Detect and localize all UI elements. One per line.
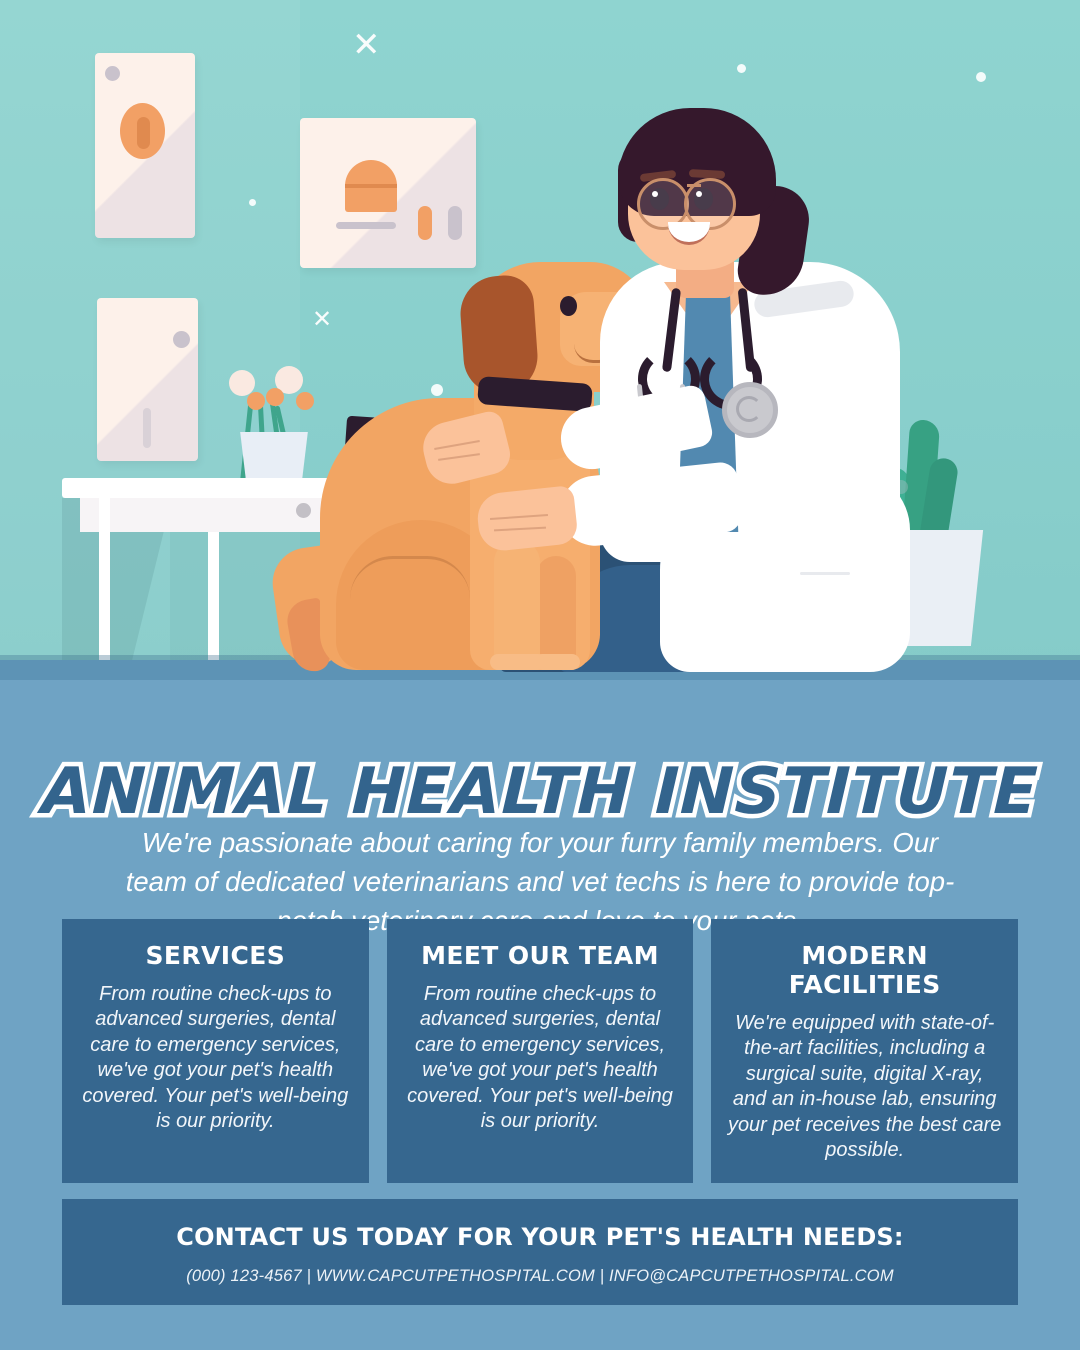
contact-bar: CONTACT US TODAY FOR YOUR PET'S HEALTH N… xyxy=(62,1199,1018,1305)
page-title: ANIMAL HEALTH INSTITUTE xyxy=(0,755,1080,829)
dog-paw xyxy=(490,654,546,670)
card-modern-facilities-title: MODERN FACILITIES xyxy=(727,941,1002,999)
glasses-bridge xyxy=(687,184,701,187)
stethoscope-bell-inner xyxy=(736,396,762,422)
desk-leg-right xyxy=(208,532,219,668)
flower-head-orange xyxy=(266,388,284,406)
poster: ✕ ✕ xyxy=(0,0,1080,1350)
contact-details[interactable]: (000) 123-4567 | WWW.CAPCUTPETHOSPITAL.C… xyxy=(62,1267,1018,1286)
poster-blob-inner xyxy=(137,117,150,149)
flower-head-orange xyxy=(247,392,265,410)
poster-mark xyxy=(143,408,151,448)
card-modern-facilities[interactable]: MODERN FACILITIES We're equipped with st… xyxy=(711,919,1018,1183)
feature-cards: SERVICES From routine check-ups to advan… xyxy=(62,919,1018,1183)
dog-front-leg xyxy=(494,540,540,670)
desk-leg-left xyxy=(99,498,110,668)
flower-head-orange xyxy=(296,392,314,410)
clinic-illustration: ✕ ✕ xyxy=(0,0,1080,680)
poster-bar xyxy=(336,222,396,229)
card-modern-facilities-body: We're equipped with state-of-the-art fac… xyxy=(727,1011,1002,1163)
card-meet-our-team-title: MEET OUR TEAM xyxy=(403,941,678,970)
wall-poster-tall xyxy=(95,53,195,238)
poster-arch-line xyxy=(345,184,397,188)
dot-accent xyxy=(249,199,256,206)
card-services-body: From routine check-ups to advanced surge… xyxy=(78,982,353,1134)
x-sparkle-icon: ✕ xyxy=(352,28,381,62)
desk-drawer-knob xyxy=(296,503,311,518)
poster-dot xyxy=(105,66,120,81)
card-services[interactable]: SERVICES From routine check-ups to advan… xyxy=(62,919,369,1183)
dog-eye xyxy=(560,296,577,316)
dot-accent xyxy=(737,64,746,73)
dog-front-leg-back xyxy=(536,556,576,670)
poster-pill-grey xyxy=(448,206,462,240)
content-panel: ANIMAL HEALTH INSTITUTE We're passionate… xyxy=(0,680,1080,1350)
card-meet-our-team-body: From routine check-ups to advanced surge… xyxy=(403,982,678,1134)
poster-pill xyxy=(418,206,432,240)
x-sparkle-icon: ✕ xyxy=(312,308,332,332)
card-meet-our-team[interactable]: MEET OUR TEAM From routine check-ups to … xyxy=(387,919,694,1183)
poster-dot xyxy=(173,331,190,348)
wall-poster-lower xyxy=(97,298,198,461)
coat-seam xyxy=(800,572,850,575)
card-services-title: SERVICES xyxy=(78,941,353,970)
dot-accent xyxy=(431,384,443,396)
wall-poster-wide xyxy=(300,118,476,268)
dot-accent xyxy=(976,72,986,82)
contact-heading: CONTACT US TODAY FOR YOUR PET'S HEALTH N… xyxy=(62,1223,1018,1251)
